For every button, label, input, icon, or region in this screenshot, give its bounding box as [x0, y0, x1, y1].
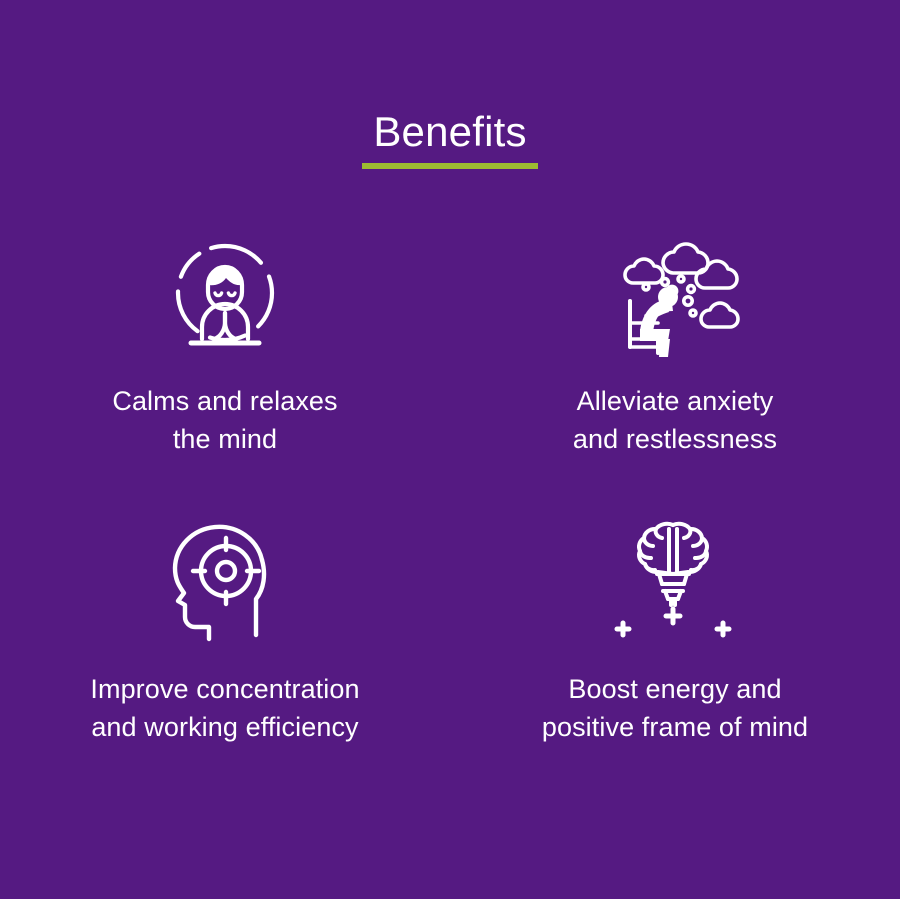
anxious-person-thought-clouds-icon — [608, 222, 743, 372]
benefit-item-calms-and-relaxes: Calms and relaxes the mind — [0, 222, 450, 502]
brain-lightbulb-icon — [605, 502, 745, 652]
benefits-grid: Calms and relaxes the mind — [0, 222, 900, 782]
benefit-item-boost-energy: Boost energy and positive frame of mind — [450, 502, 900, 782]
benefit-label: Boost energy and positive frame of mind — [542, 670, 808, 746]
title-underline-rule — [362, 163, 538, 169]
benefit-label: Calms and relaxes the mind — [112, 382, 337, 458]
benefit-item-alleviate-anxiety: Alleviate anxiety and restlessness — [450, 222, 900, 502]
benefit-item-improve-concentration: Improve concentration and working effici… — [0, 502, 450, 782]
head-with-target-icon — [163, 502, 287, 652]
benefit-label: Improve concentration and working effici… — [90, 670, 359, 746]
meditating-person-icon — [161, 222, 289, 372]
benefits-poster: Benefits — [0, 0, 900, 899]
page-title: Benefits — [0, 108, 900, 169]
benefit-label: Alleviate anxiety and restlessness — [573, 382, 777, 458]
page-title-text: Benefits — [373, 108, 526, 156]
